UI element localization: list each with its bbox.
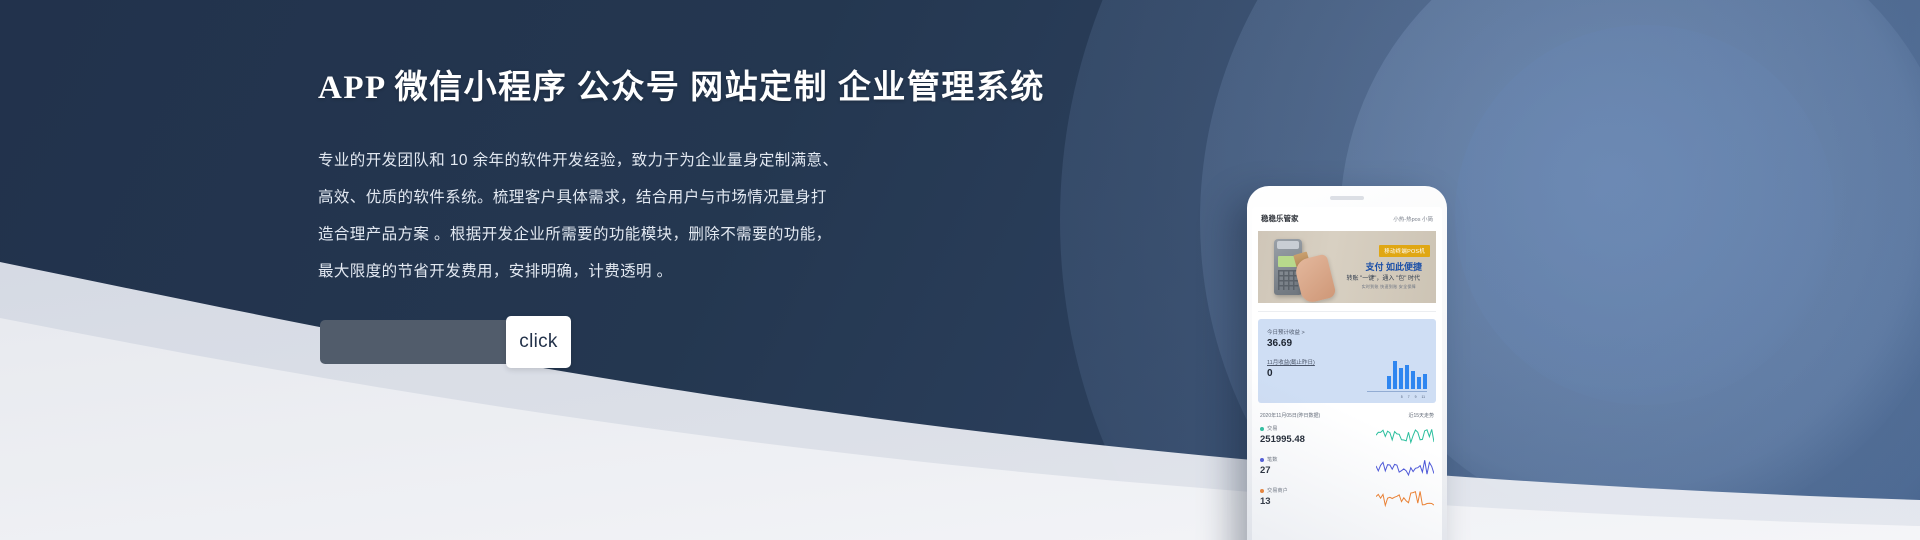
- hero-copy: APP 微信小程序 公众号 网站定制 企业管理系统 专业的开发团队和 10 余年…: [318, 60, 1038, 290]
- divider: [1258, 311, 1436, 312]
- stat-row[interactable]: 交易251995.48: [1260, 425, 1434, 449]
- sparkline: [1376, 456, 1434, 480]
- hero-banner: APP 微信小程序 公众号 网站定制 企业管理系统 专业的开发团队和 10 余年…: [0, 0, 1920, 540]
- stat-name: 交易商户: [1267, 487, 1288, 494]
- phone-mockup: 稳稳乐管家 小热-热pos 小简 移动终端POS机 支付 如此便捷 转账 "一键…: [1247, 186, 1447, 540]
- stat-value: 13: [1260, 496, 1288, 507]
- banner-heading: 支付 如此便捷: [1365, 260, 1422, 273]
- hand-illustration: [1293, 254, 1337, 303]
- bar-chart-ticks: 57911: [1401, 395, 1425, 399]
- stat-name: 交易: [1267, 425, 1277, 432]
- phone-screen: 稳稳乐管家 小热-热pos 小简 移动终端POS机 支付 如此便捷 转账 "一键…: [1252, 207, 1442, 540]
- bar-chart: [1387, 359, 1427, 389]
- promo-banner[interactable]: 移动终端POS机 支付 如此便捷 转账 "一键"，通入 "包" 时代 实时到账 …: [1258, 231, 1436, 303]
- paragraph-line: 最大限度的节省开发费用，安排明确，计费透明 。: [318, 253, 1038, 290]
- phone-speaker: [1330, 196, 1364, 200]
- status-dot-icon: [1260, 489, 1264, 493]
- stat-row-list: 交易251995.48笔数27交易商户13: [1252, 425, 1442, 511]
- paragraph-line: 高效、优质的软件系统。梳理客户具体需求，结合用户与市场情况量身打: [318, 179, 1038, 216]
- banner-tag: 移动终端POS机: [1379, 245, 1430, 257]
- stat-value: 251995.48: [1260, 434, 1305, 445]
- trend-label: 近15天走势: [1408, 412, 1434, 419]
- today-earnings-label: 今日预计收益 >: [1267, 328, 1427, 336]
- data-date-label: 2020年11月05日(昨日数据): [1260, 412, 1320, 419]
- app-header: 稳稳乐管家 小热-热pos 小简: [1252, 207, 1442, 231]
- stat-row[interactable]: 笔数27: [1260, 456, 1434, 480]
- bar-chart-axis: [1367, 391, 1427, 392]
- status-dot-icon: [1260, 427, 1264, 431]
- banner-subheading: 转账 "一键"，通入 "包" 时代: [1346, 273, 1420, 282]
- stat-value: 27: [1260, 465, 1277, 476]
- data-meta-row: 2020年11月05日(昨日数据) 近15天走势: [1260, 412, 1434, 419]
- page-title: APP 微信小程序 公众号 网站定制 企业管理系统: [318, 60, 1038, 108]
- hero-paragraph: 专业的开发团队和 10 余年的软件开发经验，致力于为企业量身定制满意、 高效、优…: [318, 142, 1038, 290]
- paragraph-line: 专业的开发团队和 10 余年的软件开发经验，致力于为企业量身定制满意、: [318, 142, 1038, 179]
- click-button[interactable]: click: [506, 316, 571, 368]
- stat-name: 笔数: [1267, 456, 1277, 463]
- banner-features: 实时到账 快速到账 安全保障: [1362, 284, 1416, 290]
- app-title: 稳稳乐管家: [1261, 213, 1299, 224]
- app-account: 小热-热pos 小简: [1393, 215, 1433, 223]
- status-dot-icon: [1260, 458, 1264, 462]
- today-earnings-value: 36.69: [1267, 338, 1427, 349]
- paragraph-line: 造合理产品方案 。根据开发企业所需要的功能模块，删除不需要的功能，: [318, 216, 1038, 253]
- sparkline: [1376, 487, 1434, 511]
- stat-row[interactable]: 交易商户13: [1260, 487, 1434, 511]
- sparkline: [1376, 425, 1434, 449]
- earnings-card[interactable]: 今日预计收益 > 36.69 11月收益(截止昨日) 0 57911: [1258, 319, 1436, 403]
